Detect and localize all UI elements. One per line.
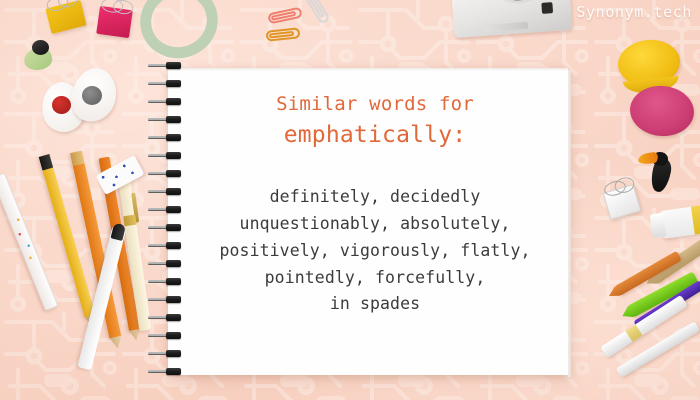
eraser-red-center (52, 96, 71, 114)
camera-grip (484, 22, 528, 32)
screenshot-root: Similar words for emphatically: definite… (0, 0, 700, 400)
glue-tube-icon (658, 205, 700, 239)
heading-target-word: emphatically: (276, 120, 474, 150)
site-watermark: Synonym.tech (576, 3, 692, 21)
tube-label-band (691, 205, 700, 235)
page-content: Similar words for emphatically: definite… (182, 68, 568, 375)
spiral-binding (148, 58, 186, 386)
binder-clip-pink-icon (96, 6, 133, 38)
page-title: Similar words for emphatically: (276, 92, 474, 150)
toucan-figurine-icon (640, 150, 682, 192)
camera-button-icon (541, 2, 553, 14)
bird-eraser-icon (22, 40, 56, 70)
heading-similar-words-for: Similar words for (276, 92, 474, 117)
eraser-gray-center (82, 86, 102, 105)
tube-cap (650, 213, 667, 239)
synonyms-list: definitely, decidedly unquestionably, ab… (219, 184, 530, 318)
